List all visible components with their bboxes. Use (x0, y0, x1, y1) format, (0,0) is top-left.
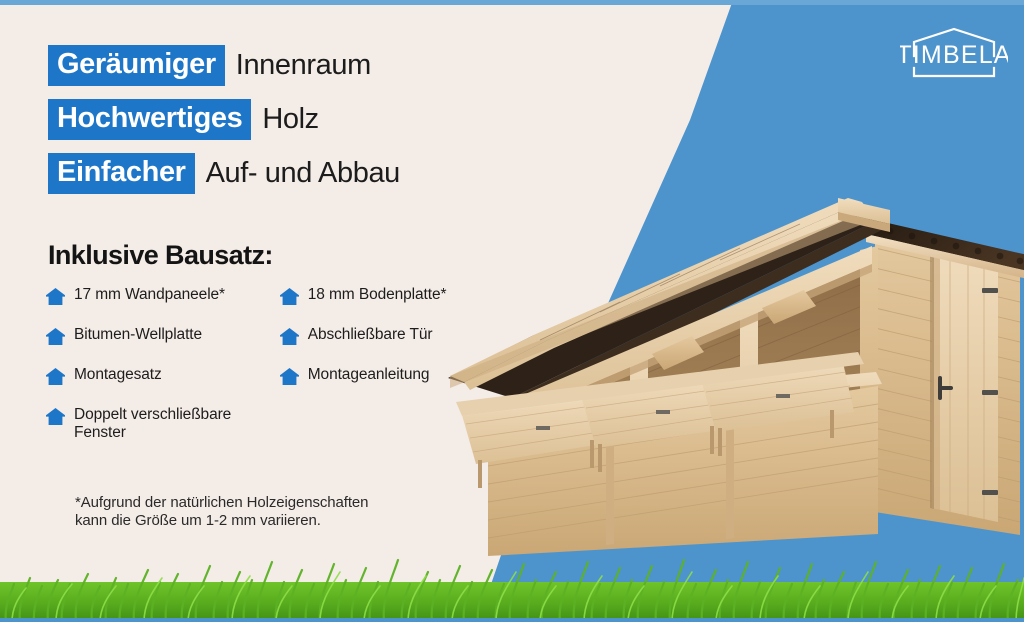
kit-feature-item: Montagesatz (46, 366, 162, 385)
kit-title: Inklusive Bausatz: (48, 240, 273, 271)
kit-feature-label: Abschließbare Tür (308, 326, 433, 344)
promo-banner: TIMBELA Geräumiger Innenraum Hochwertige… (0, 0, 1024, 622)
headline-badge-3: Einfacher (48, 153, 195, 194)
lockable-door (930, 238, 998, 522)
logo-wordmark: TIMBELA (900, 41, 1008, 69)
house-icon (280, 288, 299, 305)
headline-row-1: Geräumiger Innenraum (48, 45, 400, 86)
kit-feature-label: Montageanleitung (308, 366, 430, 384)
headline-row-2: Hochwertiges Holz (48, 99, 400, 140)
kit-feature-item: Bitumen-Wellplatte (46, 326, 202, 345)
kit-feature-row-3: Montagesatz Montageanleitung (46, 366, 486, 385)
house-icon (46, 408, 65, 425)
house-icon (280, 328, 299, 345)
house-icon (46, 328, 65, 345)
kit-feature-item: 17 mm Wandpaneele* (46, 286, 225, 305)
kit-feature-label: Montagesatz (74, 366, 162, 384)
kit-feature-row-4: Doppelt verschließbare Fenster (46, 406, 486, 442)
top-accent-strip (0, 0, 1024, 5)
footnote-text: *Aufgrund der natürlichen Holzeigenschaf… (75, 494, 495, 531)
kit-feature-label: 18 mm Bodenplatte* (308, 286, 447, 304)
kit-feature-item: Doppelt verschließbare Fenster (46, 406, 231, 442)
timbela-logo[interactable]: TIMBELA (900, 26, 1008, 88)
kit-feature-label: Doppelt verschließbare Fenster (74, 406, 231, 442)
house-icon (46, 368, 65, 385)
kit-feature-row-1: 17 mm Wandpaneele* 18 mm Bodenplatte* (46, 286, 486, 305)
wooden-market-stall-shed-illustration (420, 140, 1024, 560)
headline-text-3: Auf- und Abbau (206, 159, 400, 188)
headline-text-2: Holz (262, 105, 318, 134)
kit-feature-item: Montageanleitung (280, 366, 430, 385)
kit-feature-item: 18 mm Bodenplatte* (280, 286, 447, 305)
headline-badge-2: Hochwertiges (48, 99, 251, 140)
headline-list: Geräumiger Innenraum Hochwertiges Holz E… (48, 45, 400, 194)
headline-badge-1: Geräumiger (48, 45, 225, 86)
kit-feature-row-2: Bitumen-Wellplatte Abschließbare Tür (46, 326, 486, 345)
house-icon (280, 368, 299, 385)
kit-feature-list: 17 mm Wandpaneele* 18 mm Bodenplatte* (46, 286, 486, 463)
headline-row-3: Einfacher Auf- und Abbau (48, 153, 400, 194)
house-icon (46, 288, 65, 305)
headline-text-1: Innenraum (236, 51, 371, 80)
bottom-accent-strip (0, 618, 1024, 622)
kit-feature-label: Bitumen-Wellplatte (74, 326, 202, 344)
kit-feature-label: 17 mm Wandpaneele* (74, 286, 225, 304)
kit-feature-item: Abschließbare Tür (280, 326, 433, 345)
